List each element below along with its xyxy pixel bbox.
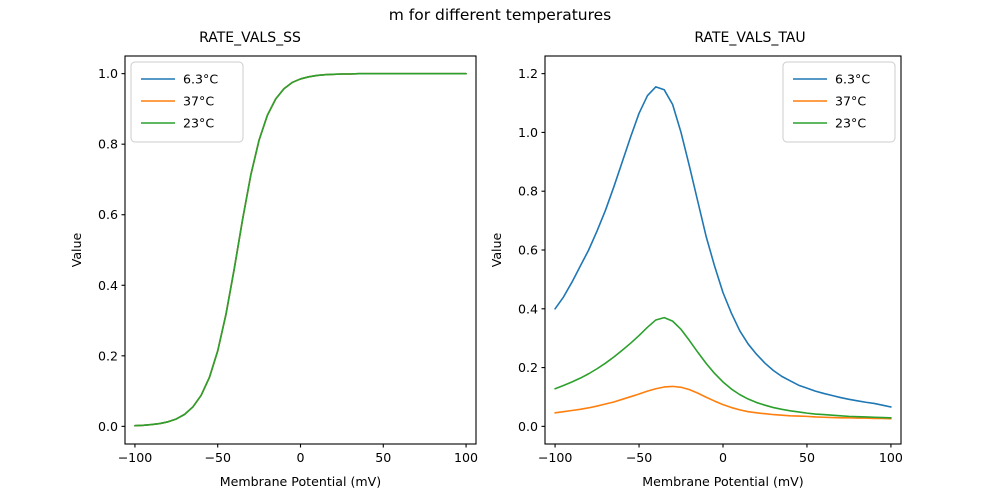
matplotlib-figure: m for different temperatures RATE_VALS_S…: [0, 0, 1000, 500]
plot-canvas-ss: −100−500501000.00.20.40.60.81.0Membrane …: [0, 0, 500, 500]
legend-label: 37°C: [183, 94, 214, 109]
x-axis-label: Membrane Potential (mV): [220, 474, 381, 489]
x-tick-label: 0: [296, 450, 304, 465]
y-tick-label: 0.4: [518, 301, 538, 316]
y-tick-label: 1.2: [518, 66, 538, 81]
y-tick-label: 1.0: [98, 66, 118, 81]
curve-37C: [555, 386, 891, 418]
y-tick-label: 0.0: [98, 419, 118, 434]
curve-23C: [555, 318, 891, 418]
subplot-rate-vals-tau: RATE_VALS_TAU −100−500501000.00.20.40.60…: [500, 0, 1000, 500]
y-tick-label: 0.0: [518, 419, 538, 434]
subplot-rate-vals-ss: RATE_VALS_SS −100−500501000.00.20.40.60.…: [0, 0, 500, 500]
y-axis-label: Value: [489, 232, 504, 267]
x-tick-label: 50: [799, 450, 815, 465]
y-axis-label: Value: [69, 232, 84, 267]
x-tick-label: 100: [879, 450, 903, 465]
legend-label: 6.3°C: [835, 72, 870, 87]
y-tick-label: 0.4: [98, 278, 118, 293]
legend-label: 37°C: [835, 94, 866, 109]
x-tick-label: −50: [204, 450, 231, 465]
y-tick-label: 0.6: [98, 207, 118, 222]
x-tick-label: −50: [626, 450, 653, 465]
plot-canvas-tau: −100−500501000.00.20.40.60.81.01.2Membra…: [500, 0, 1000, 500]
y-tick-label: 0.2: [98, 348, 118, 363]
legend-label: 23°C: [835, 116, 866, 131]
y-tick-label: 0.2: [518, 360, 538, 375]
x-tick-label: 100: [454, 450, 478, 465]
y-tick-label: 0.8: [98, 137, 118, 152]
legend-label: 23°C: [183, 116, 214, 131]
x-axis-label: Membrane Potential (mV): [642, 474, 803, 489]
y-tick-label: 0.8: [518, 184, 538, 199]
y-tick-label: 1.0: [518, 125, 538, 140]
x-tick-label: −100: [118, 450, 153, 465]
legend: 6.3°C37°C23°C: [131, 62, 243, 142]
x-tick-label: −100: [538, 450, 573, 465]
x-tick-label: 0: [719, 450, 727, 465]
legend: 6.3°C37°C23°C: [783, 62, 895, 142]
y-tick-label: 0.6: [518, 243, 538, 258]
x-tick-label: 50: [375, 450, 391, 465]
legend-label: 6.3°C: [183, 72, 218, 87]
